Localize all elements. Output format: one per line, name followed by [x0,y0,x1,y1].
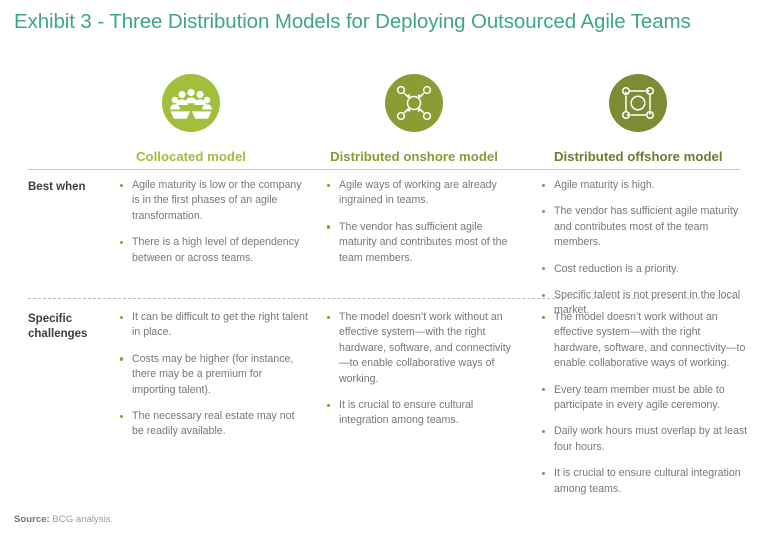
bullet-dot-icon [542,316,545,319]
list-item: The vendor has sufficient agile maturity… [325,220,520,266]
bullet-dot-icon [120,184,123,187]
bullet-dot-icon [120,316,123,319]
bullet-list: The model doesn’t work without an effect… [540,310,750,497]
list-item-text: The vendor has sufficient agile maturity… [554,205,738,248]
column-header-distributed-onshore: Distributed onshore model [330,74,498,165]
list-item: It can be difficult to get the right tal… [118,310,308,341]
list-item-text: Agile maturity is low or the company is … [132,179,302,222]
bullet-list: The model doesn’t work without an effect… [325,310,520,429]
people-group-icon [162,74,220,132]
list-item-text: Daily work hours must overlap by at leas… [554,425,747,452]
cell-challenges-onshore: The model doesn’t work without an effect… [325,310,520,429]
list-item: Agile ways of working are already ingrai… [325,178,520,209]
bullet-list: It can be difficult to get the right tal… [118,310,308,440]
cell-best-when-collocated: Agile maturity is low or the company is … [118,178,308,266]
hub-spoke-network-icon [385,74,443,132]
list-item-text: Every team member must be able to partic… [554,384,725,411]
cell-challenges-collocated: It can be difficult to get the right tal… [118,310,308,440]
list-item-text: It is crucial to ensure cultural integra… [339,399,473,426]
list-item-text: Cost reduction is a priority. [554,263,679,275]
bullet-dot-icon [327,316,330,319]
square-cycle-network-icon [609,74,667,132]
bullet-list: Agile maturity is high. The vendor has s… [540,178,750,319]
bullet-dot-icon [327,404,330,407]
list-item: Every team member must be able to partic… [540,383,750,414]
bullet-list: Agile ways of working are already ingrai… [325,178,520,266]
list-item: The vendor has sufficient agile maturity… [540,204,750,250]
list-item-text: It can be difficult to get the right tal… [132,311,308,338]
bullet-dot-icon [542,184,545,187]
bullet-dot-icon [327,184,330,187]
list-item-text: Costs may be higher (for instance, there… [132,353,293,396]
list-item-text: The vendor has sufficient agile maturity… [339,221,507,264]
cell-best-when-offshore: Agile maturity is high. The vendor has s… [540,178,750,319]
bullet-list: Agile maturity is low or the company is … [118,178,308,266]
column-title: Distributed onshore model [330,148,498,165]
source-note: Source: BCG analysis. [14,513,113,526]
list-item: Agile maturity is high. [540,178,750,193]
bullet-dot-icon [120,415,123,418]
list-item: It is crucial to ensure cultural integra… [540,466,750,497]
list-item-text: The model doesn’t work without an effect… [554,311,745,369]
bullet-dot-icon [327,225,330,228]
column-header-collocated: Collocated model [107,74,275,165]
list-item: The model doesn’t work without an effect… [540,310,750,372]
list-item-text: Agile ways of working are already ingrai… [339,179,497,206]
cell-challenges-offshore: The model doesn’t work without an effect… [540,310,750,497]
column-header-distributed-offshore: Distributed offshore model [554,74,722,165]
column-title: Distributed offshore model [554,148,722,165]
header-divider [28,169,740,170]
list-item: Cost reduction is a priority. [540,262,750,277]
list-item-text: There is a high level of dependency betw… [132,236,299,263]
bullet-dot-icon [542,388,545,391]
bullet-dot-icon [542,267,545,270]
list-item: Daily work hours must overlap by at leas… [540,424,750,455]
column-title: Collocated model [107,148,275,165]
bullet-dot-icon [542,210,545,213]
list-item: There is a high level of dependency betw… [118,235,308,266]
list-item-text: It is crucial to ensure cultural integra… [554,467,741,494]
list-item: It is crucial to ensure cultural integra… [325,398,520,429]
row-label-specific-challenges: Specific challenges [28,312,118,342]
list-item: Costs may be higher (for instance, there… [118,352,308,398]
bullet-dot-icon [542,430,545,433]
bullet-dot-icon [542,294,545,297]
bullet-dot-icon [120,357,123,360]
list-item-text: The model doesn’t work without an effect… [339,311,511,385]
list-item: The necessary real estate may not be rea… [118,409,308,440]
exhibit-board: Collocated model [0,0,768,544]
list-item: The model doesn’t work without an effect… [325,310,520,387]
cell-best-when-onshore: Agile ways of working are already ingrai… [325,178,520,266]
list-item: Agile maturity is low or the company is … [118,178,308,224]
row-label-best-when: Best when [28,180,118,195]
list-item-text: The necessary real estate may not be rea… [132,410,295,437]
bullet-dot-icon [542,472,545,475]
source-label: Source: [14,514,50,525]
bullet-dot-icon [120,241,123,244]
list-item-text: Agile maturity is high. [554,179,655,191]
source-text: BCG analysis. [50,514,113,525]
